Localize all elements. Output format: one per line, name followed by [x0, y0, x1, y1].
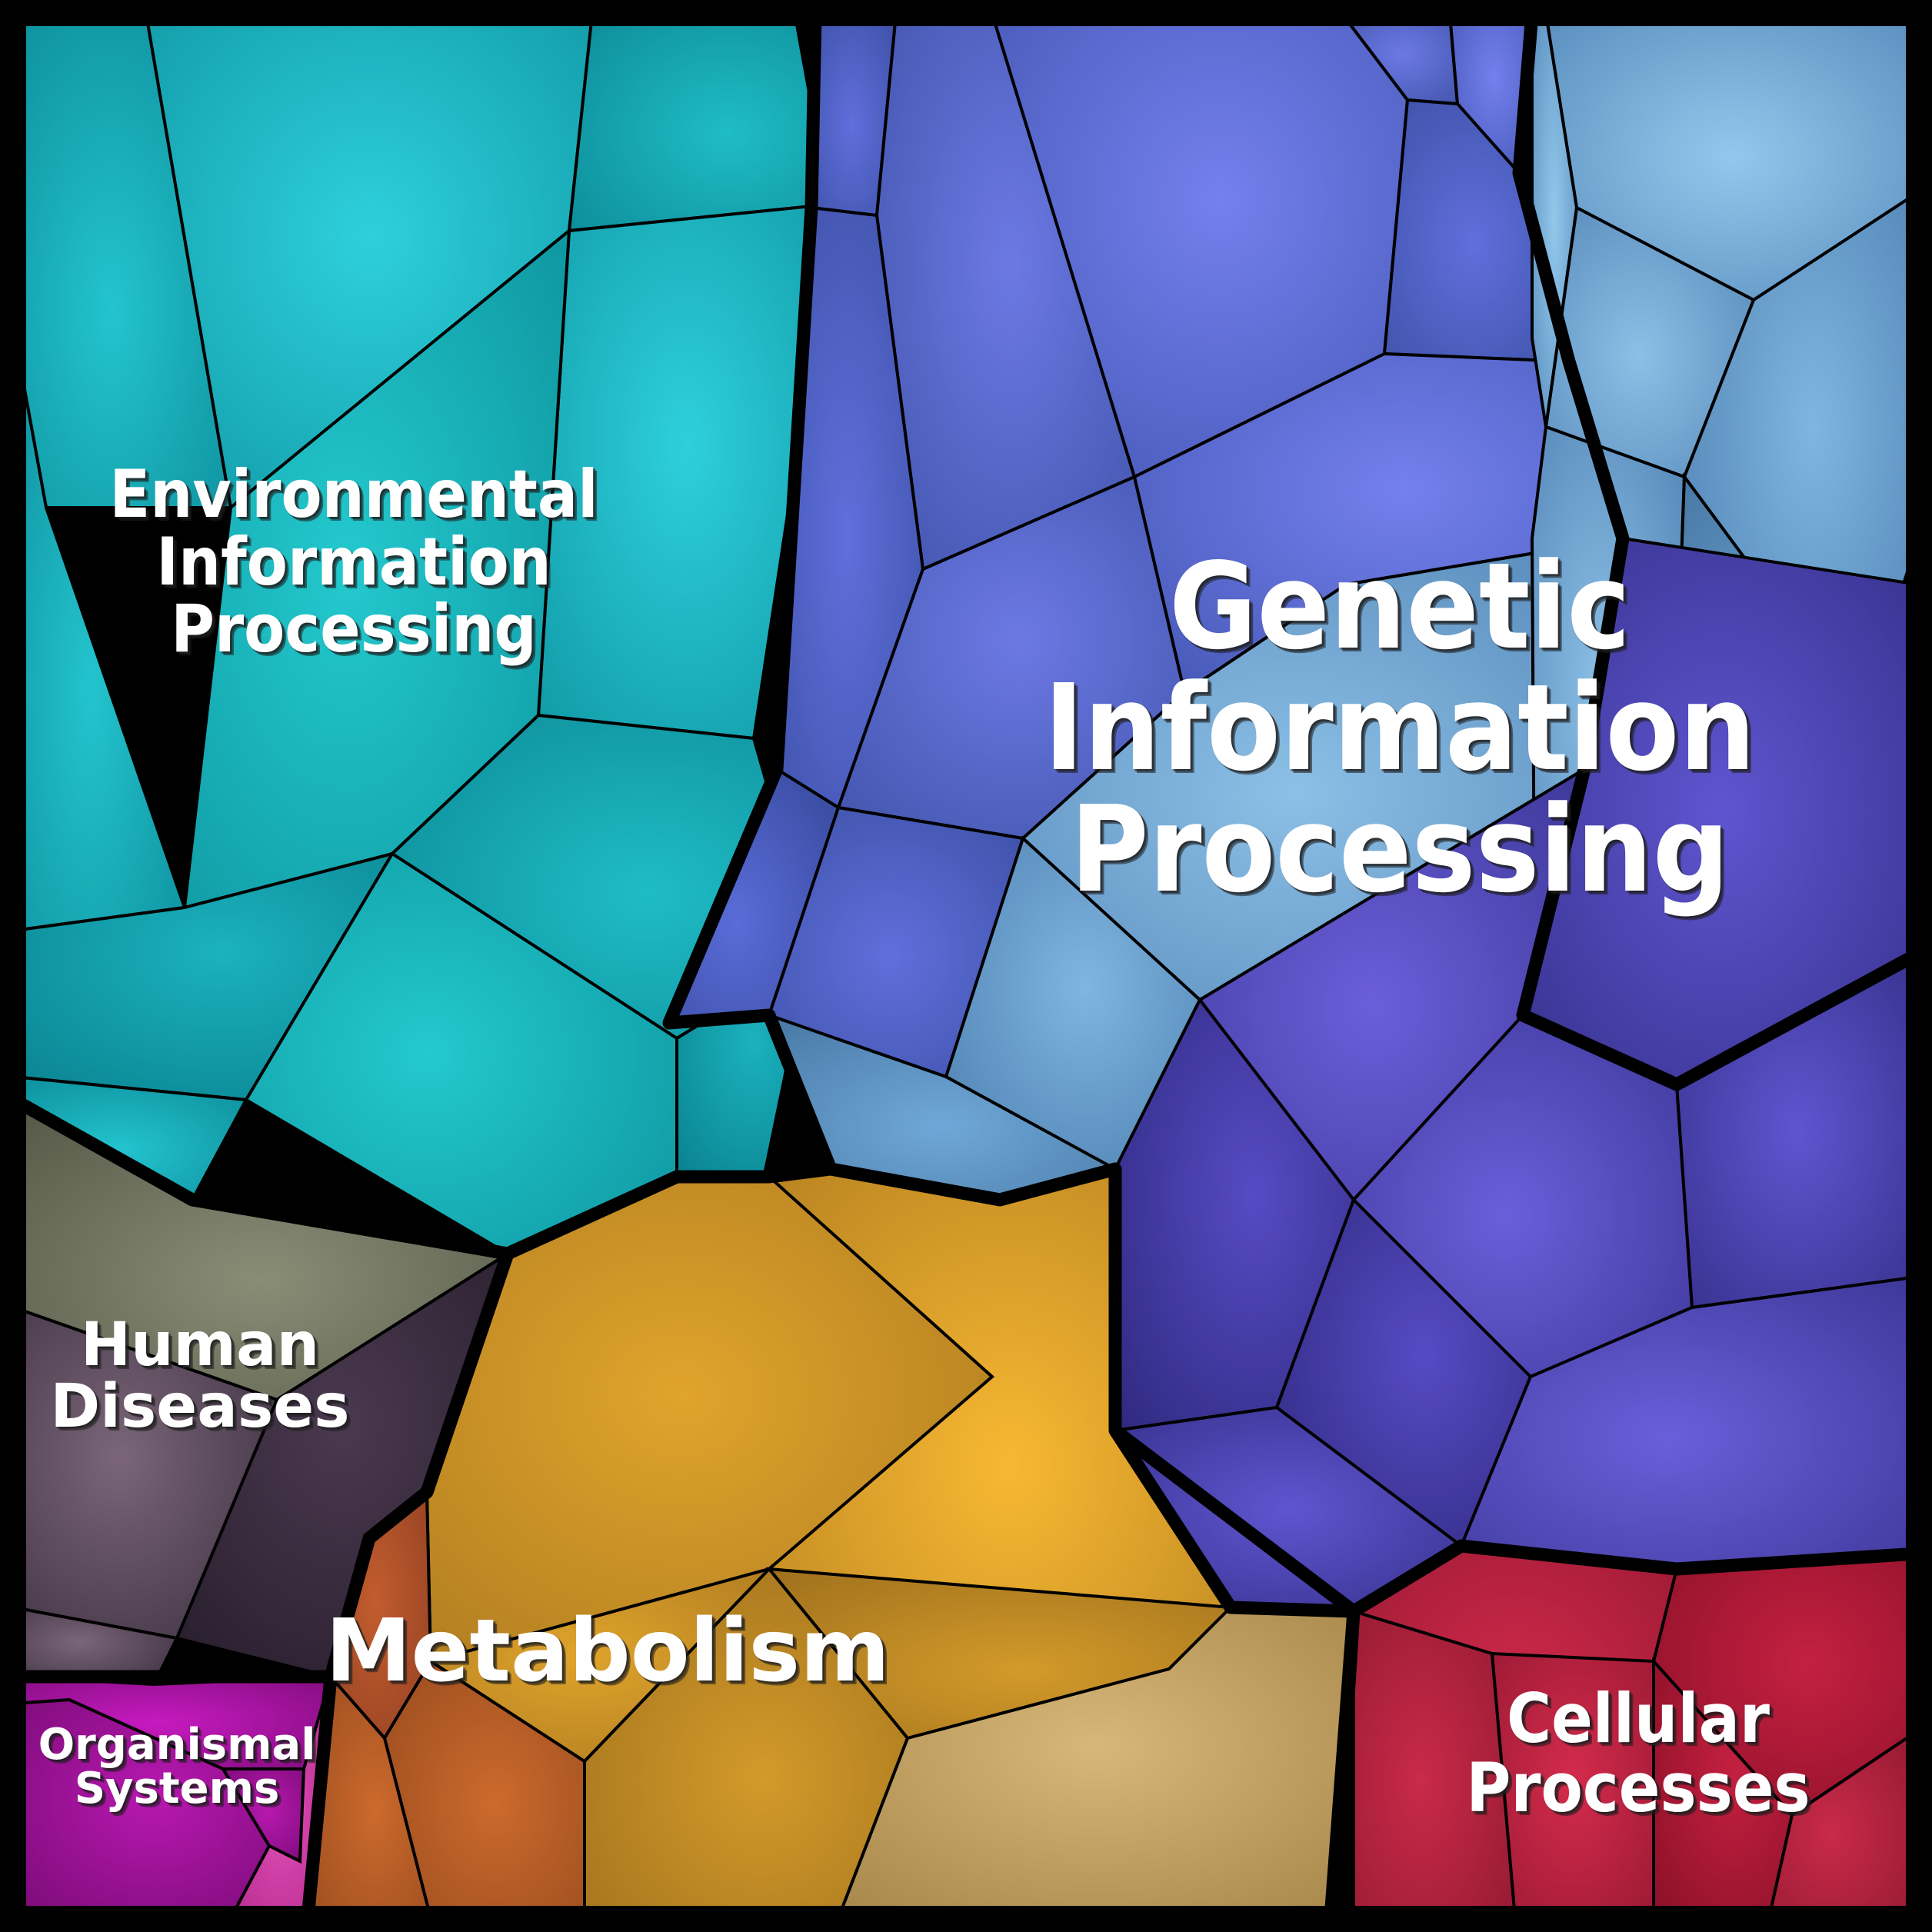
- voronoi-treemap-figure: Environmental Information Processing Gen…: [0, 0, 1932, 1932]
- region-environmental-information-processing[interactable]: [14, 14, 834, 1254]
- region-organismal-systems[interactable]: [14, 1677, 331, 1918]
- region-cellular-processes[interactable]: [1334, 1546, 1918, 1918]
- treemap-svg: [0, 0, 1932, 1932]
- treemap-subcell[interactable]: [569, 14, 834, 231]
- treemap-subcell[interactable]: [1492, 1654, 1654, 1918]
